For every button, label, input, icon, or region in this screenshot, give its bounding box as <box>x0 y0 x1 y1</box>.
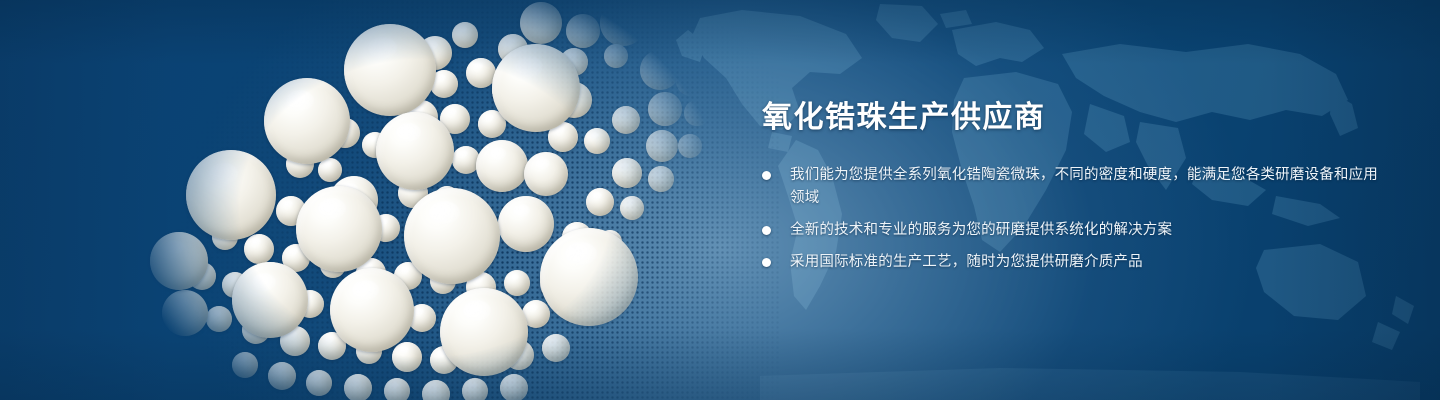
feature-list: 我们能为您提供全系列氧化锆陶瓷微珠，不同的密度和硬度，能满足您各类研磨设备和应用… <box>762 164 1382 274</box>
list-item-label: 我们能为您提供全系列氧化锆陶瓷微珠，不同的密度和硬度，能满足您各类研磨设备和应用… <box>790 164 1382 210</box>
bullet-dot-icon <box>762 258 771 267</box>
list-item-label: 全新的技术和专业的服务为您的研磨提供系统化的解决方案 <box>790 219 1382 242</box>
list-item-label: 采用国际标准的生产工艺，随时为您提供研磨介质产品 <box>790 251 1382 274</box>
list-item: 我们能为您提供全系列氧化锆陶瓷微珠，不同的密度和硬度，能满足您各类研磨设备和应用… <box>762 164 1382 210</box>
list-item: 全新的技术和专业的服务为您的研磨提供系统化的解决方案 <box>762 219 1382 242</box>
page-title: 氧化锆珠生产供应商 <box>762 100 1382 136</box>
bullet-dot-icon <box>762 226 771 235</box>
zirconia-bead-cluster-image <box>0 0 760 400</box>
hero-banner: 氧化锆珠生产供应商 我们能为您提供全系列氧化锆陶瓷微珠，不同的密度和硬度，能满足… <box>0 0 1440 400</box>
list-item: 采用国际标准的生产工艺，随时为您提供研磨介质产品 <box>762 251 1382 274</box>
banner-copy: 氧化锆珠生产供应商 我们能为您提供全系列氧化锆陶瓷微珠，不同的密度和硬度，能满足… <box>762 100 1382 274</box>
bullet-dot-icon <box>762 171 771 180</box>
